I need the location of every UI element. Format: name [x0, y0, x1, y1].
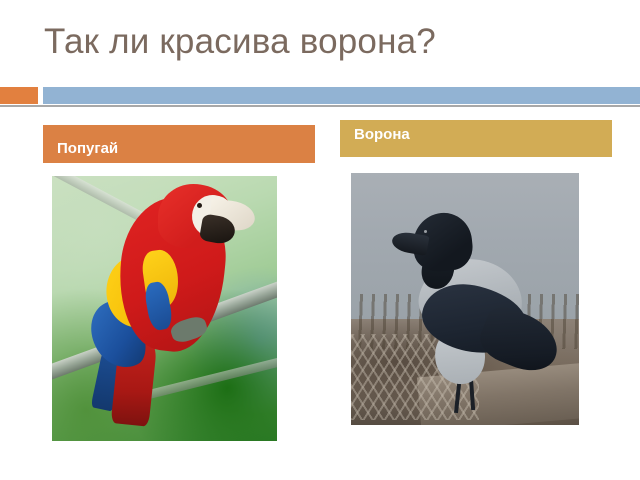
divider-bar: [43, 87, 640, 104]
page-title: Так ли красива ворона?: [44, 20, 614, 64]
panel-label-parrot: Попугай: [43, 125, 315, 163]
parrot-photo: [52, 176, 277, 441]
divider-rule: [0, 105, 640, 107]
divider-accent-block: [0, 87, 38, 104]
slide: Так ли красива ворона? Попугай Ворона: [0, 0, 640, 480]
panel-label-crow: Ворона: [340, 120, 612, 157]
parrot-eye: [197, 203, 202, 208]
panel-label-crow-text: Ворона: [354, 126, 410, 143]
panel-label-parrot-text: Попугай: [57, 140, 118, 157]
crow-eye: [424, 230, 427, 233]
crow-photo: [351, 173, 579, 425]
